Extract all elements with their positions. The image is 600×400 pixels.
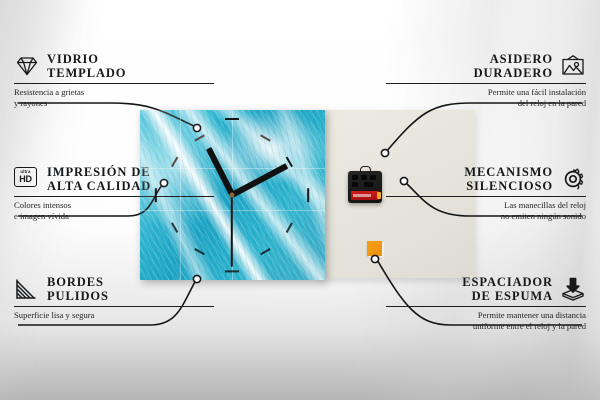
- clock-center-pin: [230, 193, 235, 198]
- feature-espaciador-de-espuma[interactable]: ESPACIADOR DE ESPUMA Permite mantener un…: [386, 275, 586, 331]
- polished-edge-icon: [14, 277, 40, 301]
- second-hand: [231, 195, 233, 267]
- mechanism-body-detail: [351, 175, 379, 188]
- mechanism-hanger-tab: [360, 166, 371, 172]
- feature-title: ASIDERO DURADERO: [474, 52, 553, 80]
- feature-rule: [14, 83, 214, 84]
- feature-description: Permite una fácil instalación del reloj …: [386, 87, 586, 108]
- foam-spacer-piece: [367, 241, 382, 256]
- minute-hand: [231, 163, 288, 197]
- ultra-hd-icon-main-label: HD: [19, 175, 32, 184]
- feature-bordes-pulidos[interactable]: BORDES PULIDOS Superficie lisa y segura: [14, 275, 214, 321]
- glass-clock-face: [140, 110, 325, 280]
- feature-title: VIDRIO TEMPLADO: [47, 52, 126, 80]
- feature-description: Resistencia a grietas y rayones: [14, 87, 214, 108]
- clock-battery: [351, 191, 379, 200]
- feature-vidrio-templado[interactable]: VIDRIO TEMPLADO Resistencia a grietas y …: [14, 52, 214, 108]
- feature-rule: [386, 306, 586, 307]
- diamond-icon: [14, 54, 40, 78]
- feature-rule: [386, 196, 586, 197]
- feature-asidero-duradero[interactable]: ASIDERO DURADERO Permite una fácil insta…: [386, 52, 586, 108]
- feature-description: Superficie lisa y segura: [14, 310, 214, 321]
- picture-frame-hanger-icon: [560, 54, 586, 78]
- feature-description: Las manecillas del reloj no emiten ningú…: [386, 200, 586, 221]
- gear-icon: [560, 167, 586, 191]
- feature-description: Permite mantener una distancia uniforme …: [386, 310, 586, 331]
- feature-mecanismo-silencioso[interactable]: MECANISMO SILENCIOSO Las manecillas del …: [386, 165, 586, 221]
- feature-title: MECANISMO SILENCIOSO: [464, 165, 553, 193]
- clock-mechanism: [348, 171, 382, 203]
- ultra-hd-icon: ultra HD: [14, 167, 40, 191]
- battery-label: [353, 194, 371, 197]
- feature-rule: [386, 83, 586, 84]
- hour-hand: [206, 147, 235, 196]
- feature-title: ESPACIADOR DE ESPUMA: [462, 275, 553, 303]
- feature-title: IMPRESIÓN DE ALTA CALIDAD: [47, 165, 151, 193]
- feature-rule: [14, 306, 214, 307]
- feature-title: BORDES PULIDOS: [47, 275, 109, 303]
- foam-spacer-arrow-icon: [560, 277, 586, 301]
